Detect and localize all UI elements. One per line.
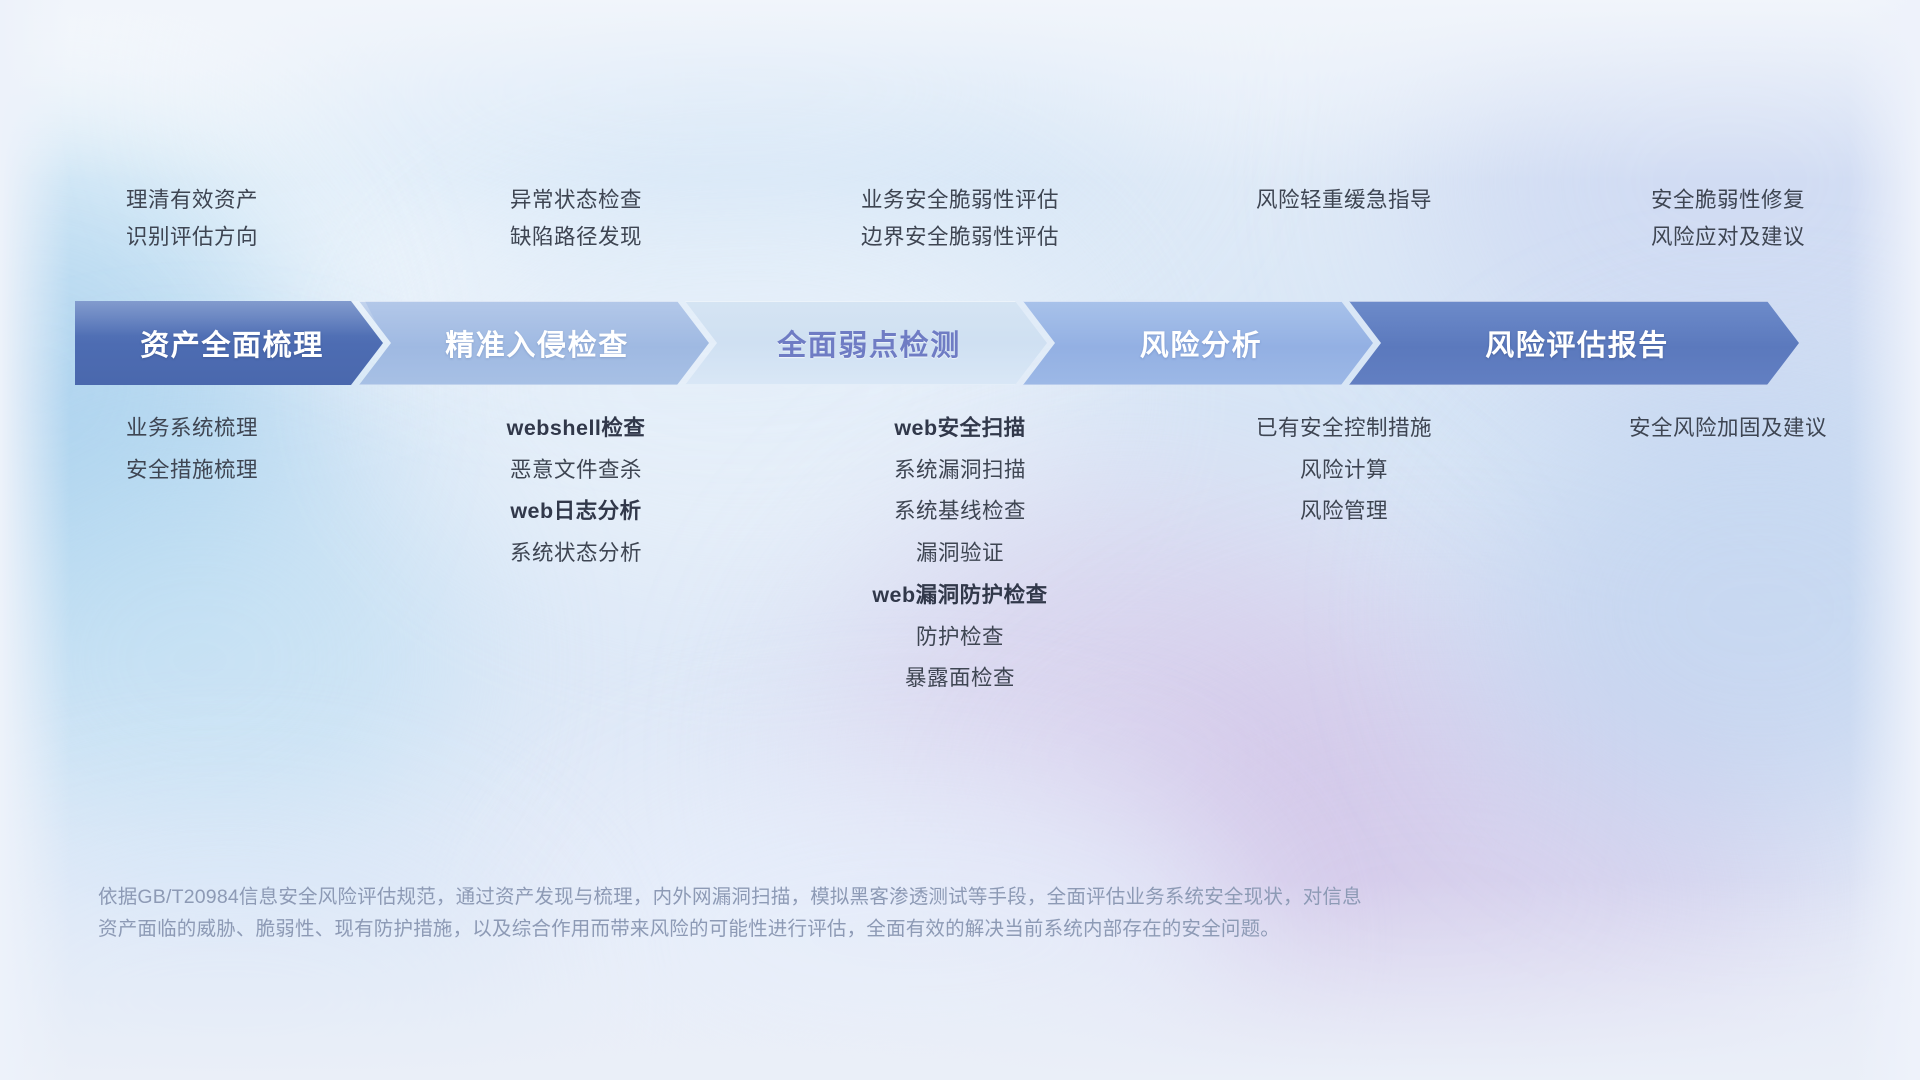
bottom-activities-stage-1: 业务系统梳理 安全措施梳理 (0, 416, 384, 691)
top-outcomes-stage-1: 理清有效资产 识别评估方向 (0, 188, 384, 249)
top-outcome-item: 风险轻重缓急指导 (1256, 188, 1432, 213)
bottom-activities-stage-2: webshell检查 恶意文件查杀 web日志分析 系统状态分析 (384, 416, 768, 691)
top-outcome-item: 风险应对及建议 (1651, 225, 1805, 250)
activity-item: web漏洞防护检查 (872, 583, 1047, 608)
top-outcomes-stage-2: 异常状态检查 缺陷路径发现 (384, 188, 768, 249)
top-outcome-item: 缺陷路径发现 (510, 225, 642, 250)
activity-item: 安全措施梳理 (126, 458, 258, 483)
activity-item: 系统状态分析 (510, 541, 642, 566)
activity-item: 恶意文件查杀 (510, 458, 642, 483)
process-stage-arrow-assessment-report[interactable]: 风险评估报告 (1349, 301, 1799, 385)
stage-arrow-label: 精准入侵检查 (439, 322, 629, 364)
activity-item: 安全风险加固及建议 (1629, 416, 1827, 441)
activity-item: 防护检查 (916, 625, 1004, 650)
process-stage-arrow-intrusion-check[interactable]: 精准入侵检查 (359, 301, 709, 385)
activity-item: 风险管理 (1300, 499, 1388, 524)
activity-item: 暴露面检查 (905, 666, 1015, 691)
process-arrow-band: 资产全面梳理 精准入侵检查 全面弱点检测 风险分析 风险评估报告 (75, 301, 1847, 385)
bottom-activities-stage-4: 已有安全控制措施 风险计算 风险管理 (1152, 416, 1536, 691)
top-outcomes-stage-5: 安全脆弱性修复 风险应对及建议 (1536, 188, 1920, 249)
bottom-activities-row: 业务系统梳理 安全措施梳理 webshell检查 恶意文件查杀 web日志分析 … (0, 416, 1920, 691)
top-outcomes-row: 理清有效资产 识别评估方向 异常状态检查 缺陷路径发现 业务安全脆弱性评估 边界… (0, 188, 1920, 249)
activity-item: webshell检查 (507, 416, 646, 441)
activity-item: web安全扫描 (894, 416, 1025, 441)
footnote-description: 依据GB/T20984信息安全风险评估规范，通过资产发现与梳理，内外网漏洞扫描，… (98, 882, 1628, 945)
bottom-activities-stage-5: 安全风险加固及建议 (1536, 416, 1920, 691)
top-outcomes-stage-4: 风险轻重缓急指导 (1152, 188, 1536, 249)
activity-item: web日志分析 (510, 499, 641, 524)
bottom-activities-stage-3: web安全扫描 系统漏洞扫描 系统基线检查 漏洞验证 web漏洞防护检查 防护检… (768, 416, 1152, 691)
stage-arrow-label: 风险评估报告 (1479, 322, 1669, 364)
activity-item: 漏洞验证 (916, 541, 1004, 566)
top-outcome-item: 安全脆弱性修复 (1651, 188, 1805, 213)
activity-item: 已有安全控制措施 (1256, 416, 1432, 441)
top-outcome-item: 理清有效资产 (126, 188, 258, 213)
diagram-content: 理清有效资产 识别评估方向 异常状态检查 缺陷路径发现 业务安全脆弱性评估 边界… (0, 0, 1920, 1080)
activity-item: 业务系统梳理 (126, 416, 258, 441)
footnote-line: 资产面临的威胁、脆弱性、现有防护措施，以及综合作用而带来风险的可能性进行评估，全… (98, 914, 1628, 946)
top-outcome-item: 识别评估方向 (126, 225, 258, 250)
activity-item: 风险计算 (1300, 458, 1388, 483)
activity-item: 系统漏洞扫描 (894, 458, 1026, 483)
stage-arrow-label: 全面弱点检测 (771, 322, 961, 364)
top-outcome-item: 业务安全脆弱性评估 (861, 188, 1059, 213)
footnote-line: 依据GB/T20984信息安全风险评估规范，通过资产发现与梳理，内外网漏洞扫描，… (98, 882, 1628, 914)
top-outcomes-stage-3: 业务安全脆弱性评估 边界安全脆弱性评估 (768, 188, 1152, 249)
top-outcome-item: 异常状态检查 (510, 188, 642, 213)
process-stage-arrow-asset-inventory[interactable]: 资产全面梳理 (75, 301, 383, 385)
stage-arrow-label: 资产全面梳理 (134, 322, 324, 364)
process-stage-arrow-risk-analysis[interactable]: 风险分析 (1023, 301, 1373, 385)
activity-item: 系统基线检查 (894, 499, 1026, 524)
stage-arrow-label: 风险分析 (1134, 322, 1262, 364)
top-outcome-item: 边界安全脆弱性评估 (861, 225, 1059, 250)
process-stage-arrow-weakness-detection[interactable]: 全面弱点检测 (685, 301, 1047, 385)
